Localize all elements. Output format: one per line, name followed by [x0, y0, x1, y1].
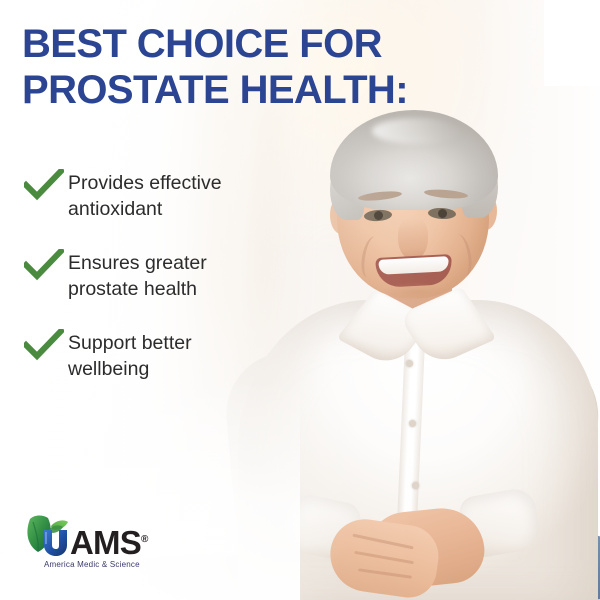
check-icon [24, 165, 68, 201]
leaf-capsule-logo-icon [24, 512, 74, 558]
benefit-text: Support better wellbeing [68, 325, 192, 383]
headline-line-2: PROSTATE HEALTH: [22, 67, 492, 113]
benefits-list: Provides effective antioxidant Ensures g… [24, 165, 274, 405]
list-item: Provides effective antioxidant [24, 165, 274, 223]
list-item: Support better wellbeing [24, 325, 274, 383]
registered-mark: ® [141, 534, 148, 545]
white-corner-block [544, 0, 600, 86]
list-item: Ensures greater prostate health [24, 245, 274, 303]
ad-creative: BEST CHOICE FOR PROSTATE HEALTH: Provide… [0, 0, 600, 600]
check-icon [24, 245, 68, 281]
logo-wordmark: AMS® [70, 528, 148, 558]
page-title: BEST CHOICE FOR PROSTATE HEALTH: [22, 21, 492, 114]
check-icon [24, 325, 68, 361]
benefit-text: Provides effective antioxidant [68, 165, 222, 223]
brand-logo: AMS® America Medic & Science [24, 512, 194, 569]
logo-word-text: AMS [70, 524, 141, 561]
headline-line-1: BEST CHOICE FOR [22, 21, 492, 67]
logo-tagline: America Medic & Science [44, 560, 194, 569]
benefit-text: Ensures greater prostate health [68, 245, 207, 303]
